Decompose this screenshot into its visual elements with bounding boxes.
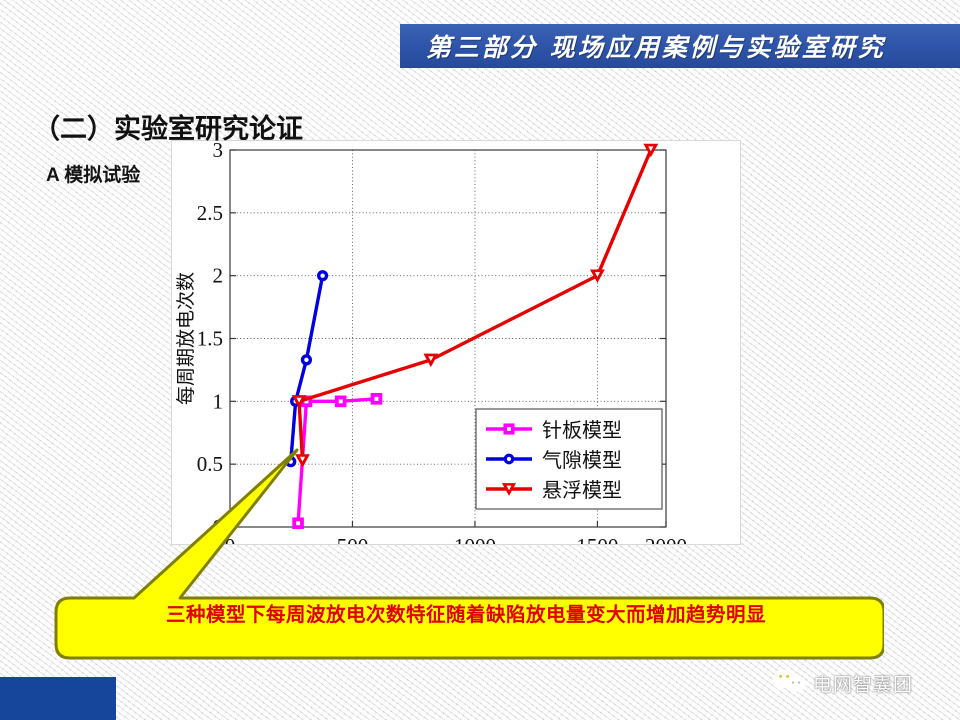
series-line (298, 399, 376, 523)
x-tick-label: 500 (337, 534, 369, 544)
chart-legend: 针板模型气隙模型悬浮模型 (476, 409, 662, 509)
data-marker-hole (304, 358, 308, 362)
y-tick-label: 2.5 (197, 201, 223, 225)
x-tick-label: 1500 (576, 534, 618, 544)
y-tick-label: 0 (213, 515, 224, 539)
page-title: （二）实验室研究论证 (33, 107, 303, 146)
data-marker-hole (507, 427, 511, 431)
data-marker-hole (320, 273, 324, 277)
wechat-icon (772, 668, 806, 699)
x-tick-label: 2000 (645, 534, 687, 544)
data-marker-hole (339, 399, 343, 403)
section-banner: 第三部分 现场应用案例与实验室研究 (400, 24, 960, 68)
x-tick-label: 0 (225, 534, 236, 544)
legend-label: 悬浮模型 (542, 478, 622, 502)
watermark: 电网智囊团 (772, 668, 913, 699)
legend-label: 气隙模型 (542, 448, 622, 472)
callout-text: 三种模型下每周波放电次数特征随着缺陷放电量变大而增加趋势明显 (95, 598, 837, 627)
y-tick-label: 1 (213, 389, 224, 413)
legend-label: 针板模型 (542, 418, 622, 442)
banner-title: 第三部分 现场应用案例与实验室研究 (400, 28, 886, 64)
y-axis-label: 每周期放电次数 (175, 272, 197, 405)
series-line (291, 276, 323, 462)
y-tick-label: 1.5 (197, 327, 223, 351)
data-marker-hole (289, 459, 293, 463)
chart-series-1 (293, 394, 381, 528)
chart-panel: 00.511.522.530500100015002000每周期放电次数针板模型… (172, 141, 740, 544)
watermark-label: 电网智囊团 (813, 670, 913, 697)
y-tick-label: 2 (213, 264, 224, 288)
discharge-count-line-chart: 00.511.522.530500100015002000每周期放电次数针板模型… (172, 141, 740, 544)
chart-series-2 (285, 270, 328, 467)
page-subtitle: A 模拟试验 (46, 160, 140, 187)
y-tick-label: 0.5 (197, 452, 223, 476)
data-marker-hole (507, 457, 511, 461)
x-tick-label: 1000 (454, 534, 496, 544)
corner-decoration-block (0, 677, 116, 720)
data-marker-hole (374, 397, 378, 401)
data-marker-hole (296, 521, 300, 525)
